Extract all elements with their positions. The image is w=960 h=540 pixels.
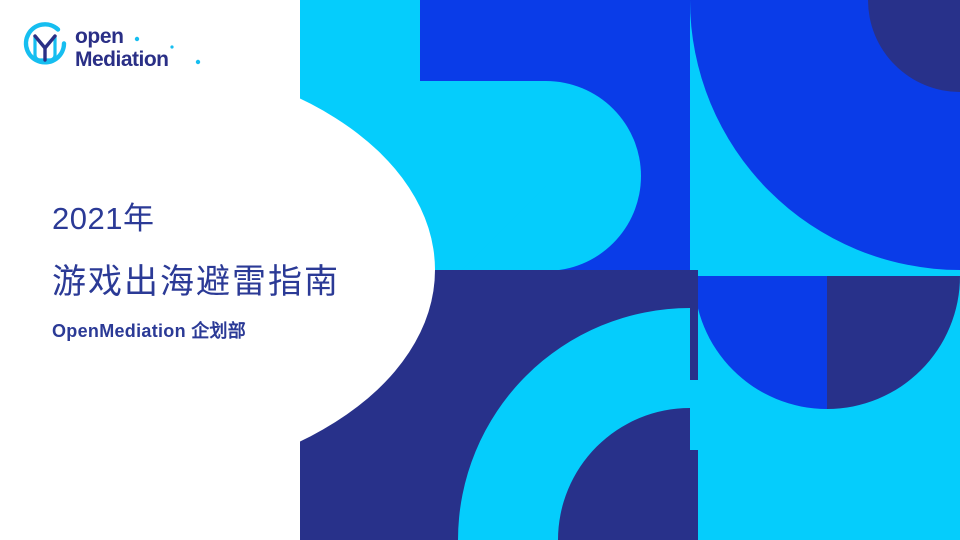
cyan-top-gap-bottom-right <box>690 270 960 276</box>
page-title: 游戏出海避雷指南 <box>52 254 392 310</box>
openmediation-circle-m-mark <box>19 21 71 73</box>
bottom-left-quadrant <box>420 270 690 540</box>
logo-word-open: open <box>75 25 124 48</box>
logo-dot-accent <box>170 45 173 48</box>
logo-m-vee <box>35 36 55 48</box>
logo-dot-mediation <box>196 60 200 64</box>
bottom-right-quadrant <box>690 270 960 540</box>
logo-word-mediation: Mediation <box>75 48 169 71</box>
title-slide: open Mediation 2021年 游戏出海避雷指南 OpenMediat… <box>0 0 960 540</box>
title-subtitle: OpenMediation 企划部 <box>52 316 392 346</box>
logo-dot-open <box>135 37 139 41</box>
top-right-quadrant <box>690 0 960 270</box>
navy-edge-strip-lower <box>690 450 698 540</box>
title-block: 2021年 游戏出海避雷指南 OpenMediation 企划部 <box>52 196 392 346</box>
openmediation-wordmark: open Mediation <box>75 21 215 73</box>
openmediation-logo: open Mediation <box>19 17 219 77</box>
title-year: 2021年 <box>52 196 392 242</box>
navy-edge-strip-upper <box>690 270 698 380</box>
